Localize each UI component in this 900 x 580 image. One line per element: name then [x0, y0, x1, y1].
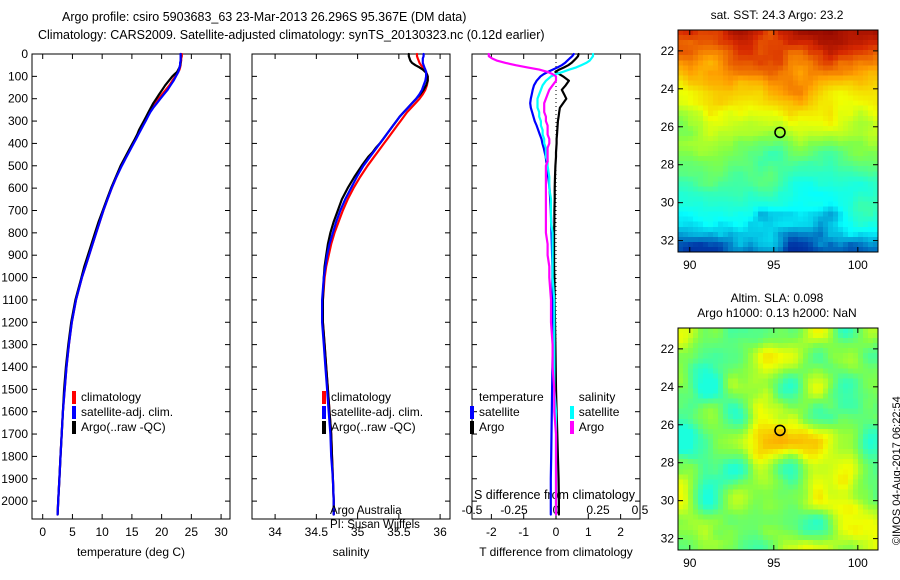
y-tick-label: 900	[8, 248, 28, 262]
x-tick-label-t: -1	[518, 525, 529, 539]
map-y-tick-label: -24	[660, 82, 674, 96]
map-y-tick-label: -32	[660, 532, 674, 546]
sal-legend-item: Argo(..raw -QC)	[322, 420, 423, 435]
map-y-tick-label: -26	[660, 418, 674, 432]
x-tick-label: 10	[95, 525, 109, 539]
map-y-tick-label: -28	[660, 158, 674, 172]
x-tick-label-t: -2	[486, 525, 497, 539]
legend-label: satellite-adj. clim.	[81, 406, 173, 419]
y-tick-label: 1000	[1, 271, 28, 285]
x-tick-label-s: 0.5	[632, 503, 649, 517]
map-y-tick-label: -30	[660, 494, 674, 508]
y-tick-label: 800	[8, 226, 28, 240]
x-tick-label: 34.5	[305, 525, 329, 539]
legend-label: climatology	[331, 391, 391, 404]
y-tick-label: 1300	[1, 338, 28, 352]
x-tick-label-t: 1	[585, 525, 592, 539]
map-x-tick-label: 90	[683, 258, 697, 272]
legend-color-swatch	[322, 421, 326, 434]
sla-map-title-line-1: Altim. SLA: 0.098	[672, 291, 882, 305]
y-tick-label: 2000	[1, 494, 28, 508]
y-tick-label: 300	[8, 114, 28, 128]
x-tick-label: 30	[214, 525, 228, 539]
x-tick-label-t: 0	[553, 525, 560, 539]
legend-label: climatology	[81, 391, 141, 404]
map-y-tick-label: -22	[660, 44, 674, 58]
salinity-axis-title: salinity	[333, 545, 370, 559]
legend-color-swatch	[322, 391, 326, 404]
legend-color-swatch	[570, 406, 574, 419]
x-tick-label: 34	[268, 525, 282, 539]
profile-panels: 0100200300400500600700800900100011001200…	[0, 0, 680, 580]
x-tick-label: 20	[155, 525, 169, 539]
sst-map[interactable]: 9095100-22-24-26-28-30-32	[660, 24, 900, 274]
y-tick-label: 500	[8, 159, 28, 173]
attribution-line-2: PI: Susan Wijffels	[330, 519, 420, 531]
temp-legend-item: Argo(..raw -QC)	[72, 420, 173, 435]
map-x-tick-label: 100	[848, 258, 868, 272]
legend-label: Argo(..raw -QC)	[81, 421, 166, 434]
legend-label: Argo(..raw -QC)	[331, 421, 416, 434]
legend-color-swatch	[470, 406, 474, 419]
salinity-legend: climatologysatellite-adj. clim.Argo(..ra…	[322, 390, 423, 435]
legend-color-swatch	[72, 391, 76, 404]
map-x-tick-label: 95	[767, 556, 781, 570]
imos-credit: ©IMOS 04-Aug-2017 06:22:54	[891, 396, 900, 545]
legend-label: satellite	[579, 406, 620, 419]
temp-legend-item: climatology	[72, 390, 173, 405]
diff-legend-item: Argo	[570, 420, 620, 435]
x-tick-label-s: -0.5	[462, 503, 483, 517]
x-tick-label: 0	[39, 525, 46, 539]
temperature-axis-title: temperature (deg C)	[77, 545, 185, 559]
x-tick-label-t: 2	[617, 525, 624, 539]
map-y-tick-label: -30	[660, 196, 674, 210]
y-tick-label: 700	[8, 203, 28, 217]
attribution-line-1: Argo Australia	[330, 505, 402, 517]
map-raster	[678, 328, 879, 551]
y-tick-label: 600	[8, 181, 28, 195]
y-tick-label: 1200	[1, 315, 28, 329]
y-tick-label: 1900	[1, 472, 28, 486]
y-tick-label: 0	[21, 47, 28, 61]
sla-map-title-line-2: Argo h1000: 0.13 h2000: NaN	[662, 306, 892, 320]
y-tick-label: 1400	[1, 360, 28, 374]
map-x-tick-label: 90	[683, 556, 697, 570]
map-y-tick-label: -26	[660, 120, 674, 134]
legend-label: satellite	[479, 406, 520, 419]
sla-map[interactable]: 9095100-22-24-26-28-30-32	[660, 322, 900, 572]
figure-root: Argo profile: csiro 5903683_63 23-Mar-20…	[0, 0, 900, 580]
y-tick-label: 1500	[1, 382, 28, 396]
tdiff-axis-title: T difference from climatology	[479, 545, 633, 559]
legend-label: Argo	[479, 421, 504, 434]
diff-legend-item: Argo	[470, 420, 544, 435]
legend-label: satellite-adj. clim.	[331, 406, 423, 419]
y-tick-label: 100	[8, 69, 28, 83]
y-tick-label: 1100	[2, 293, 28, 307]
temperature-legend: climatologysatellite-adj. clim.Argo(..ra…	[72, 390, 173, 435]
x-tick-label: 36	[433, 525, 447, 539]
legend-label: Argo	[579, 421, 604, 434]
sal-legend-item: climatology	[322, 390, 423, 405]
y-tick-label: 1800	[1, 449, 28, 463]
difference-legend: temperaturesatelliteArgosalinitysatellit…	[470, 390, 645, 435]
legend-column-header: temperature	[470, 390, 544, 404]
legend-color-swatch	[322, 406, 326, 419]
y-tick-label: 1700	[1, 427, 28, 441]
temp-legend-item: satellite-adj. clim.	[72, 405, 173, 420]
y-tick-label: 1600	[1, 405, 28, 419]
map-y-tick-label: -28	[660, 456, 674, 470]
x-tick-label: 25	[185, 525, 199, 539]
plot-frame	[252, 54, 450, 519]
x-tick-label-s: 0.25	[586, 503, 610, 517]
x-tick-label: 15	[125, 525, 139, 539]
map-raster	[678, 30, 879, 253]
sdiff-axis-title: S difference from climatology	[474, 488, 636, 502]
diff-legend-item: satellite	[570, 405, 620, 420]
map-x-tick-label: 95	[767, 258, 781, 272]
sal-legend-item: satellite-adj. clim.	[322, 405, 423, 420]
x-tick-label: 5	[69, 525, 76, 539]
y-tick-label: 400	[8, 136, 28, 150]
difference-legend-column: temperaturesatelliteArgo	[470, 390, 544, 435]
y-tick-label: 200	[8, 92, 28, 106]
legend-column-header: salinity	[570, 390, 620, 404]
difference-legend-column: salinitysatelliteArgo	[570, 390, 620, 435]
map-y-tick-label: -24	[660, 380, 674, 394]
map-y-tick-label: -22	[660, 342, 674, 356]
sst-map-title: sat. SST: 24.3 Argo: 23.2	[672, 8, 882, 22]
legend-color-swatch	[72, 421, 76, 434]
legend-color-swatch	[72, 406, 76, 419]
legend-color-swatch	[570, 421, 574, 434]
map-x-tick-label: 100	[848, 556, 868, 570]
diff-legend-item: satellite	[470, 405, 544, 420]
map-y-tick-label: -32	[660, 234, 674, 248]
x-tick-label-s: -0.25	[500, 503, 528, 517]
legend-color-swatch	[470, 421, 474, 434]
